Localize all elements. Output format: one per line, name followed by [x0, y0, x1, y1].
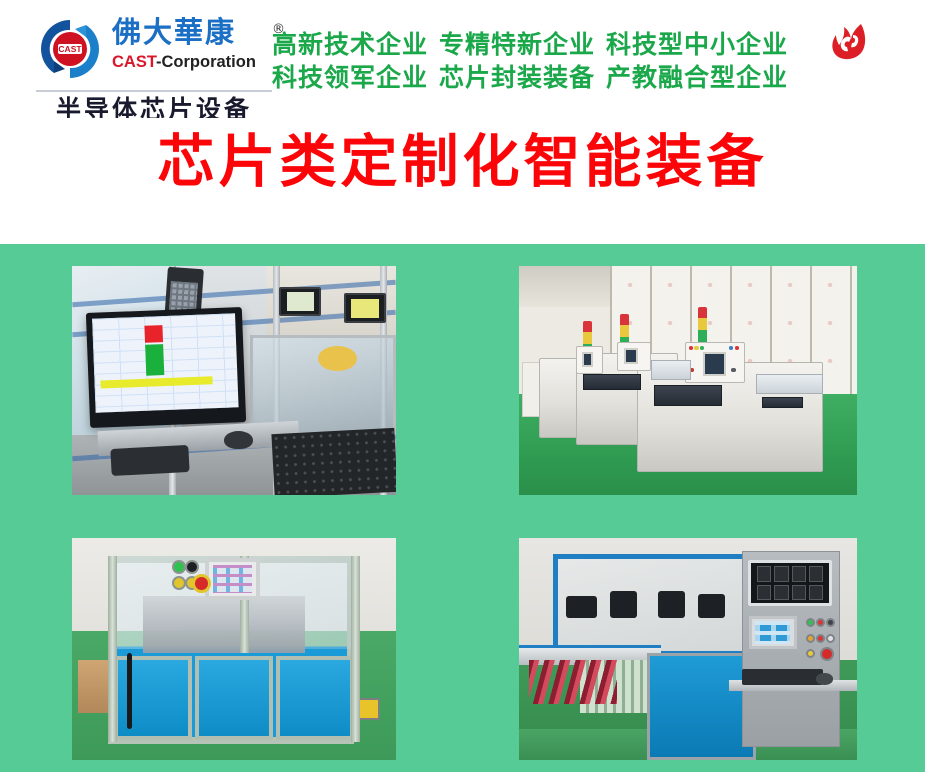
title-band: 芯片类定制化智能装备 — [0, 118, 925, 244]
brand-name-cn-text: 佛大華康 — [112, 15, 236, 49]
page-title: 芯片类定制化智能装备 — [0, 127, 925, 197]
slogan-line-2: 科技领军企业芯片封装装备产教融合型企业 — [272, 61, 872, 94]
photo-1-monitor — [86, 307, 246, 427]
brand-name-en: CAST-Corporation — [112, 51, 272, 73]
page-header: CAST 佛大華康 ® CAST-Corporation 半导体芯片设备 高新技… — [0, 0, 925, 118]
slogan-2-1: 科技领军企业 — [272, 63, 428, 92]
gallery-photo-1 — [72, 266, 396, 495]
slogan-1-3: 科技型中小企业 — [606, 30, 788, 59]
photo-gallery — [0, 244, 925, 772]
slogan-2-2: 芯片封装装备 — [439, 63, 595, 92]
cast-badge-text: CAST — [58, 44, 82, 54]
brand-name-en-secondary: -Corporation — [156, 53, 256, 71]
gallery-photo-2 — [519, 266, 857, 495]
company-logo-block: CAST 佛大華康 ® CAST-Corporation 半导体芯片设备 — [34, 10, 274, 115]
photo-1-content — [72, 266, 396, 495]
photo-3-content — [72, 538, 396, 760]
cast-swoosh-logo-icon: CAST — [34, 17, 106, 81]
slogan-2-3: 产教融合型企业 — [606, 63, 788, 92]
gallery-photo-4 — [519, 538, 857, 760]
brand-text-wrap: 佛大華康 ® CAST-Corporation — [112, 14, 272, 73]
brand-name-cn: 佛大華康 ® — [112, 14, 272, 50]
red-flame-award-icon — [828, 22, 870, 62]
slogan-1-2: 专精特新企业 — [439, 30, 595, 59]
poster-page: CAST 佛大華康 ® CAST-Corporation 半导体芯片设备 高新技… — [0, 0, 925, 772]
gallery-photo-3 — [72, 538, 396, 760]
slogan-line-1: 高新技术企业专精特新企业科技型中小企业 — [272, 28, 872, 61]
photo-4-monitor — [748, 560, 832, 606]
slogan-1-1: 高新技术企业 — [272, 30, 428, 59]
photo-4-content — [519, 538, 857, 760]
brand-name-en-primary: CAST — [112, 53, 156, 71]
photo-2-content — [519, 266, 857, 495]
certification-slogans: 高新技术企业专精特新企业科技型中小企业 科技领军企业芯片封装装备产教融合型企业 — [272, 28, 872, 94]
